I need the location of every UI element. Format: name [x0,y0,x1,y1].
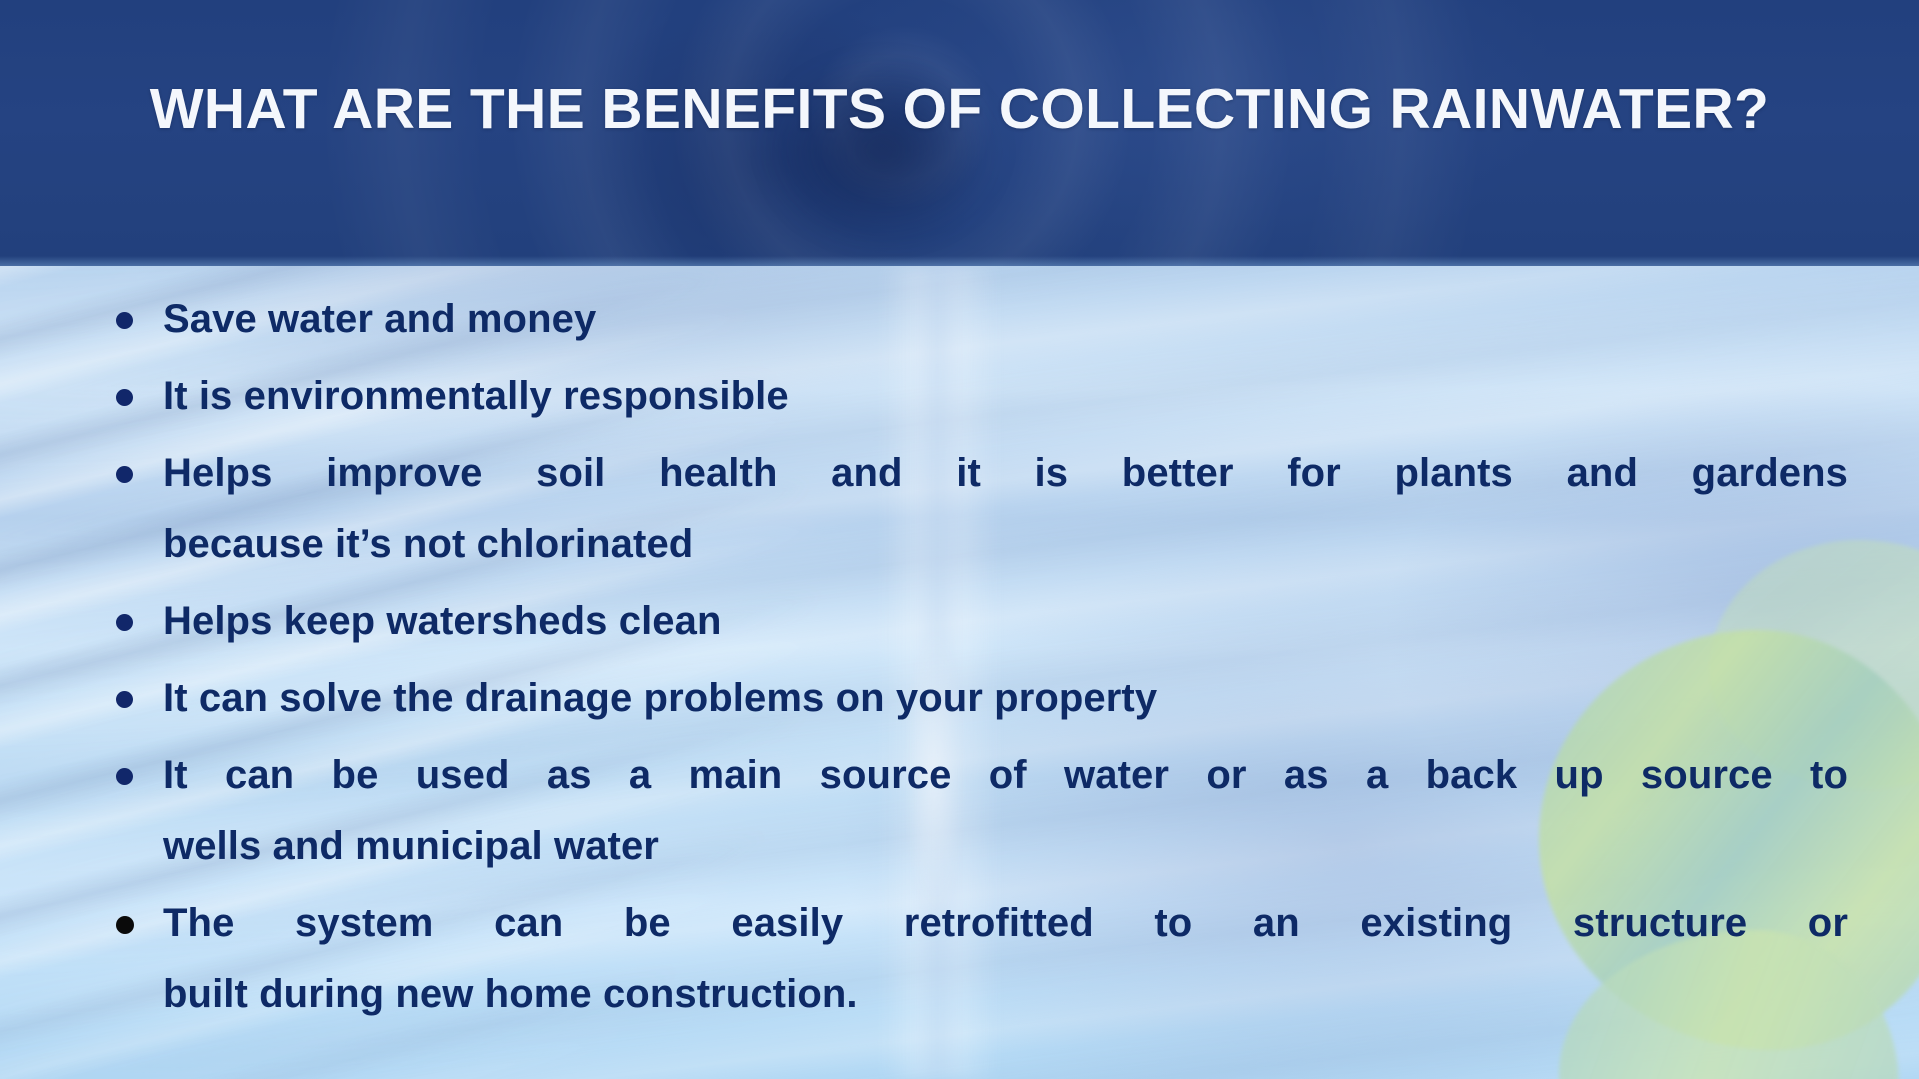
slide-root: WHAT ARE THE BENEFITS OF COLLECTING RAIN… [0,0,1919,1079]
list-item-label: Save water and money [163,297,596,341]
list-item-label-line-1: Helps improve soil health and it is bett… [163,438,1848,509]
page-title: WHAT ARE THE BENEFITS OF COLLECTING RAIN… [46,78,1873,141]
bullet-dot-icon [116,916,134,934]
list-item-label-line-1: The system can be easily retrofitted to … [163,888,1848,959]
list-item-label: Helps keep watersheds clean [163,599,722,643]
list-item-label: It can solve the drainage problems on yo… [163,676,1157,720]
list-item-label-line-2: built during new home construction. [163,959,1848,1030]
list-item: It is environmentally responsible [108,361,1848,432]
list-item: It can solve the drainage problems on yo… [108,663,1848,734]
list-item-label-line-2: wells and municipal water [163,811,1848,882]
bullet-dot-icon [116,466,133,483]
body-content: Save water and money It is environmental… [0,266,1919,1079]
list-item: The system can be easily retrofitted to … [108,888,1848,1030]
list-item-label-line-2: because it’s not chlorinated [163,509,1848,580]
header-bar: WHAT ARE THE BENEFITS OF COLLECTING RAIN… [0,0,1919,266]
header-bottom-fade [0,256,1919,266]
list-item: Helps improve soil health and it is bett… [108,438,1848,580]
list-item-label-line-1: It can be used as a main source of water… [163,740,1848,811]
list-item: Helps keep watersheds clean [108,586,1848,657]
list-item: Save water and money [108,284,1848,355]
bullet-dot-icon [116,389,133,406]
bullet-dot-icon [116,312,133,329]
benefits-list: Save water and money It is environmental… [108,284,1848,1036]
list-item-label: It is environmentally responsible [163,374,789,418]
list-item: It can be used as a main source of water… [108,740,1848,882]
bullet-dot-icon [116,691,133,708]
bullet-dot-icon [116,768,133,785]
bullet-dot-icon [116,614,133,631]
